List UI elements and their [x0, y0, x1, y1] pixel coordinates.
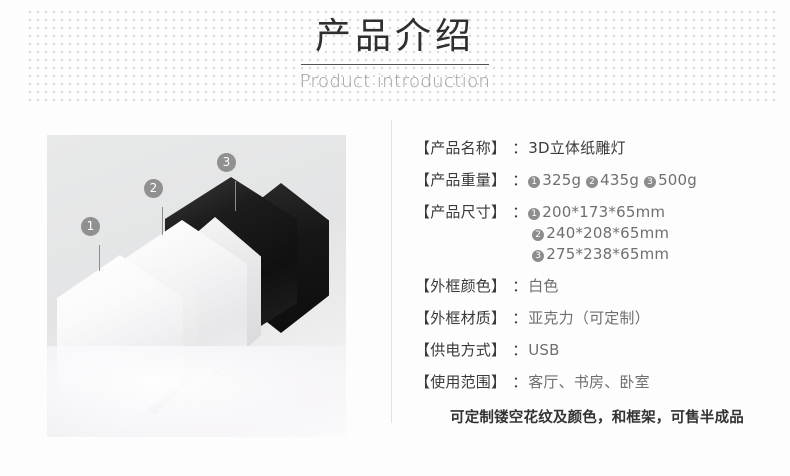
specification-list: 【产品名称】 ： 3D立体纸雕灯 【产品重量】 ： 1325g 2435g 35…	[415, 138, 775, 404]
weight-value-3: 500g	[658, 171, 697, 189]
callout-marker-1: 1	[81, 217, 100, 236]
callout-marker-2: 2	[144, 179, 163, 198]
spec-colon: ：	[506, 340, 528, 361]
spec-label: 【产品重量】	[415, 170, 506, 191]
spec-colon: ：	[506, 276, 528, 297]
spec-colon: ：	[506, 170, 528, 191]
page-title: 产品介绍	[0, 0, 790, 60]
header-text-block: 产品介绍 Product introduction	[0, 0, 790, 94]
content-area: 1 2 3 【产品名称】 ： 3D立体纸雕灯 【产品重量】 ： 1325g 24…	[0, 112, 790, 476]
callout-leader-line-3	[235, 181, 236, 211]
spec-row-power-supply: 【供电方式】 ： USB	[415, 340, 775, 361]
floor-reflection	[47, 346, 346, 437]
circled-number-1: 1	[528, 208, 540, 220]
spec-label: 【使用范围】	[415, 372, 506, 393]
circled-number-2: 2	[532, 229, 544, 241]
spec-row-product-weight: 【产品重量】 ： 1325g 2435g 3500g	[415, 170, 775, 191]
size-line-1: 1200*173*65mm	[528, 202, 669, 223]
spec-value: 1200*173*65mm 2240*208*65mm 3275*238*65m…	[528, 202, 669, 265]
circled-number-3: 3	[532, 250, 544, 262]
spec-value: USB	[528, 340, 559, 361]
circled-number-2: 2	[586, 176, 598, 188]
size-value-1: 200*173*65mm	[542, 203, 665, 221]
callout-leader-line-1	[99, 245, 100, 271]
spec-label: 【供电方式】	[415, 340, 506, 361]
customization-note: 可定制镂空花纹及颜色，和框架，可售半成品	[412, 406, 782, 427]
spec-value: 3D立体纸雕灯	[528, 138, 626, 159]
vertical-divider	[391, 120, 392, 423]
product-photo: 1 2 3	[47, 135, 346, 437]
spec-row-frame-color: 【外框颜色】 ： 白色	[415, 276, 775, 297]
callout-leader-line-2	[162, 207, 163, 235]
page-header: 产品介绍 Product introduction	[0, 0, 790, 112]
spec-value: 白色	[528, 276, 558, 297]
spec-colon: ：	[506, 202, 528, 223]
spec-row-product-size: 【产品尺寸】 ： 1200*173*65mm 2240*208*65mm 327…	[415, 202, 775, 265]
spec-colon: ：	[506, 372, 528, 393]
callout-marker-3: 3	[217, 153, 236, 172]
spec-label: 【产品尺寸】	[415, 202, 506, 223]
weight-value-2: 435g	[600, 171, 639, 189]
spec-row-frame-material: 【外框材质】 ： 亚克力（可定制）	[415, 308, 775, 329]
size-value-3: 275*238*65mm	[546, 245, 669, 263]
spec-row-product-name: 【产品名称】 ： 3D立体纸雕灯	[415, 138, 775, 159]
size-line-2: 2240*208*65mm	[528, 223, 669, 244]
product-introduction-page: 产品介绍 Product introduction	[0, 0, 790, 476]
spec-label: 【产品名称】	[415, 138, 506, 159]
spec-row-usage-scope: 【使用范围】 ： 客厅、书房、卧室	[415, 372, 775, 393]
spec-value: 客厅、书房、卧室	[528, 372, 650, 393]
circled-number-1: 1	[528, 176, 540, 188]
spec-value: 1325g 2435g 3500g	[528, 170, 697, 191]
spec-label: 【外框材质】	[415, 308, 506, 329]
circled-number-3: 3	[644, 176, 656, 188]
weight-value-1: 325g	[542, 171, 581, 189]
spec-value: 亚克力（可定制）	[528, 308, 650, 329]
size-line-3: 3275*238*65mm	[528, 244, 669, 265]
page-subtitle: Product introduction	[0, 65, 790, 94]
spec-colon: ：	[506, 308, 528, 329]
spec-label: 【外框颜色】	[415, 276, 506, 297]
spec-colon: ：	[506, 138, 528, 159]
size-value-2: 240*208*65mm	[546, 224, 669, 242]
